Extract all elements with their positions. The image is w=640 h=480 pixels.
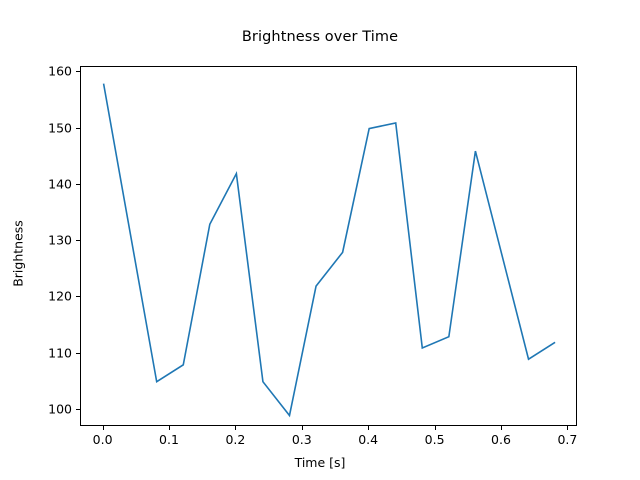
y-tick-mark bbox=[76, 353, 80, 354]
x-axis-label: Time [s] bbox=[0, 455, 640, 470]
brightness-line-series bbox=[104, 84, 556, 416]
x-tick-mark bbox=[368, 426, 369, 430]
y-tick-label: 140 bbox=[32, 176, 72, 191]
x-tick-mark bbox=[103, 426, 104, 430]
x-tick-label: 0.1 bbox=[139, 432, 199, 447]
y-tick-mark bbox=[76, 296, 80, 297]
y-tick-mark bbox=[76, 71, 80, 72]
y-tick-label: 160 bbox=[32, 64, 72, 79]
y-tick-mark bbox=[76, 128, 80, 129]
x-tick-label: 0.7 bbox=[537, 432, 597, 447]
y-tick-mark bbox=[76, 409, 80, 410]
y-tick-mark bbox=[76, 240, 80, 241]
matplotlib-figure: Brightness over Time Brightness Time [s]… bbox=[0, 0, 640, 480]
x-tick-label: 0.4 bbox=[338, 432, 398, 447]
plot-area bbox=[80, 66, 577, 426]
x-tick-label: 0.6 bbox=[471, 432, 531, 447]
x-tick-mark bbox=[169, 426, 170, 430]
x-tick-label: 0.5 bbox=[405, 432, 465, 447]
y-tick-label: 120 bbox=[32, 289, 72, 304]
page-title: Brightness over Time bbox=[0, 29, 640, 45]
line-series-svg bbox=[81, 67, 578, 427]
x-tick-mark bbox=[567, 426, 568, 430]
x-tick-label: 0.0 bbox=[73, 432, 133, 447]
y-tick-label: 100 bbox=[32, 401, 72, 416]
x-tick-mark bbox=[501, 426, 502, 430]
y-tick-label: 110 bbox=[32, 345, 72, 360]
x-tick-label: 0.3 bbox=[272, 432, 332, 447]
y-axis-label: Brightness bbox=[11, 174, 26, 334]
x-tick-label: 0.2 bbox=[205, 432, 265, 447]
x-tick-mark bbox=[235, 426, 236, 430]
y-tick-label: 150 bbox=[32, 120, 72, 135]
x-tick-mark bbox=[302, 426, 303, 430]
x-tick-mark bbox=[435, 426, 436, 430]
y-tick-mark bbox=[76, 184, 80, 185]
y-tick-label: 130 bbox=[32, 233, 72, 248]
